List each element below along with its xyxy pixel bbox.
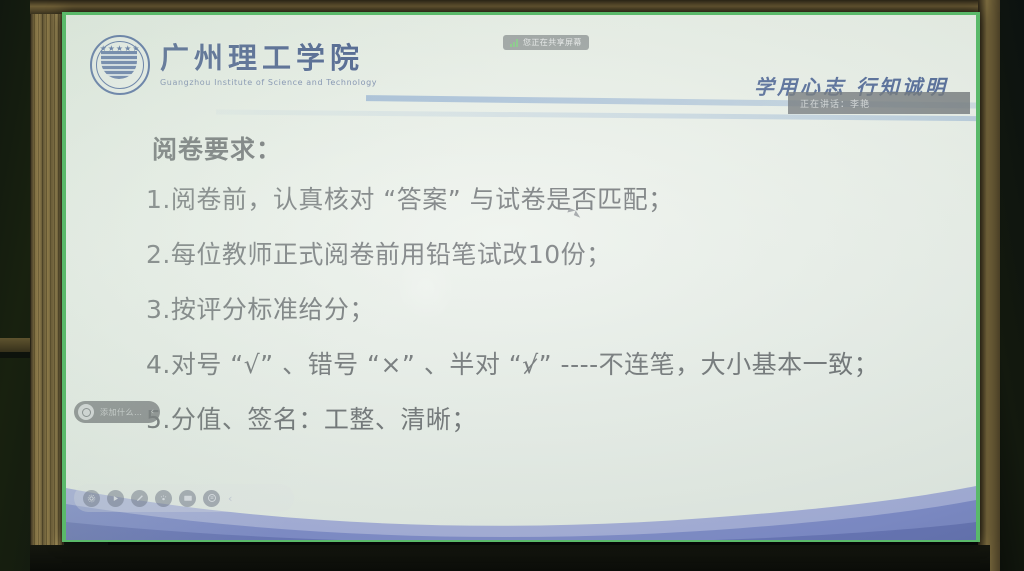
play-button[interactable] [107, 490, 124, 507]
pen-icon [135, 493, 145, 503]
wood-grain [30, 0, 64, 571]
presentation-toolbar[interactable]: ‹ [74, 484, 294, 512]
list-item: 1.阅卷前，认真核对 “答案” 与试卷是否匹配； [146, 180, 976, 216]
list-item: 5.分值、签名：工整、清晰； [146, 400, 976, 436]
toolbar-collapse-chevron-icon[interactable]: ‹ [228, 492, 232, 505]
monitor-icon [183, 494, 193, 503]
screen-frame-bottom [30, 545, 990, 571]
laser-pointer-icon [159, 494, 168, 503]
bullet-list: 1.阅卷前，认真核对 “答案” 与试卷是否匹配； 2.每位教师正式阅卷前用铅笔试… [146, 180, 976, 436]
laser-button[interactable] [155, 490, 172, 507]
screen-frame-right [978, 0, 1000, 571]
slide-body: 阅卷要求： 1.阅卷前，认真核对 “答案” 与试卷是否匹配； 2.每位教师正式阅… [66, 120, 976, 455]
signal-bars-icon [510, 39, 518, 47]
record-button[interactable] [203, 490, 220, 507]
list-item: 4.对号 “√” 、错号 “×” 、半对 “√̷” ----不连笔，大小基本一致… [146, 345, 976, 381]
seal-emblem [101, 51, 137, 79]
gear-icon [87, 494, 96, 503]
screen-share-indicator-label: 您正在共享屏幕 [523, 37, 582, 48]
chevron-left-icon[interactable]: ‹ [149, 407, 157, 417]
school-logo: ★★★★★ 广州理工学院 Guangzhou Institute of Scie… [90, 35, 377, 95]
play-icon [111, 494, 120, 503]
screen-button[interactable] [179, 490, 196, 507]
settings-button[interactable] [83, 490, 100, 507]
classroom-photo: ★★★★★ 广州理工学院 Guangzhou Institute of Scie… [0, 0, 1024, 571]
screen-frame-left [30, 0, 64, 571]
record-icon [207, 493, 217, 503]
school-seal-icon: ★★★★★ [90, 35, 150, 95]
page-title: 阅卷要求： [152, 130, 976, 166]
share-control-pill[interactable]: 添加什么… ‹ [74, 401, 160, 423]
pen-button[interactable] [131, 490, 148, 507]
speaking-tooltip: 正在讲话：李艳 [788, 92, 970, 114]
list-item: 3.按评分标准给分； [146, 290, 976, 326]
projected-slide[interactable]: ★★★★★ 广州理工学院 Guangzhou Institute of Scie… [66, 15, 976, 540]
school-name-cn: 广州理工学院 [160, 44, 377, 73]
speaking-tooltip-label: 正在讲话：李艳 [800, 97, 870, 110]
screen-share-indicator[interactable]: 您正在共享屏幕 [503, 35, 589, 50]
list-item: 2.每位教师正式阅卷前用铅笔试改10份； [146, 235, 976, 271]
record-dot-icon[interactable] [78, 404, 94, 420]
school-name-en: Guangzhou Institute of Science and Techn… [160, 78, 377, 87]
share-control-pill-label: 添加什么… [100, 407, 143, 418]
